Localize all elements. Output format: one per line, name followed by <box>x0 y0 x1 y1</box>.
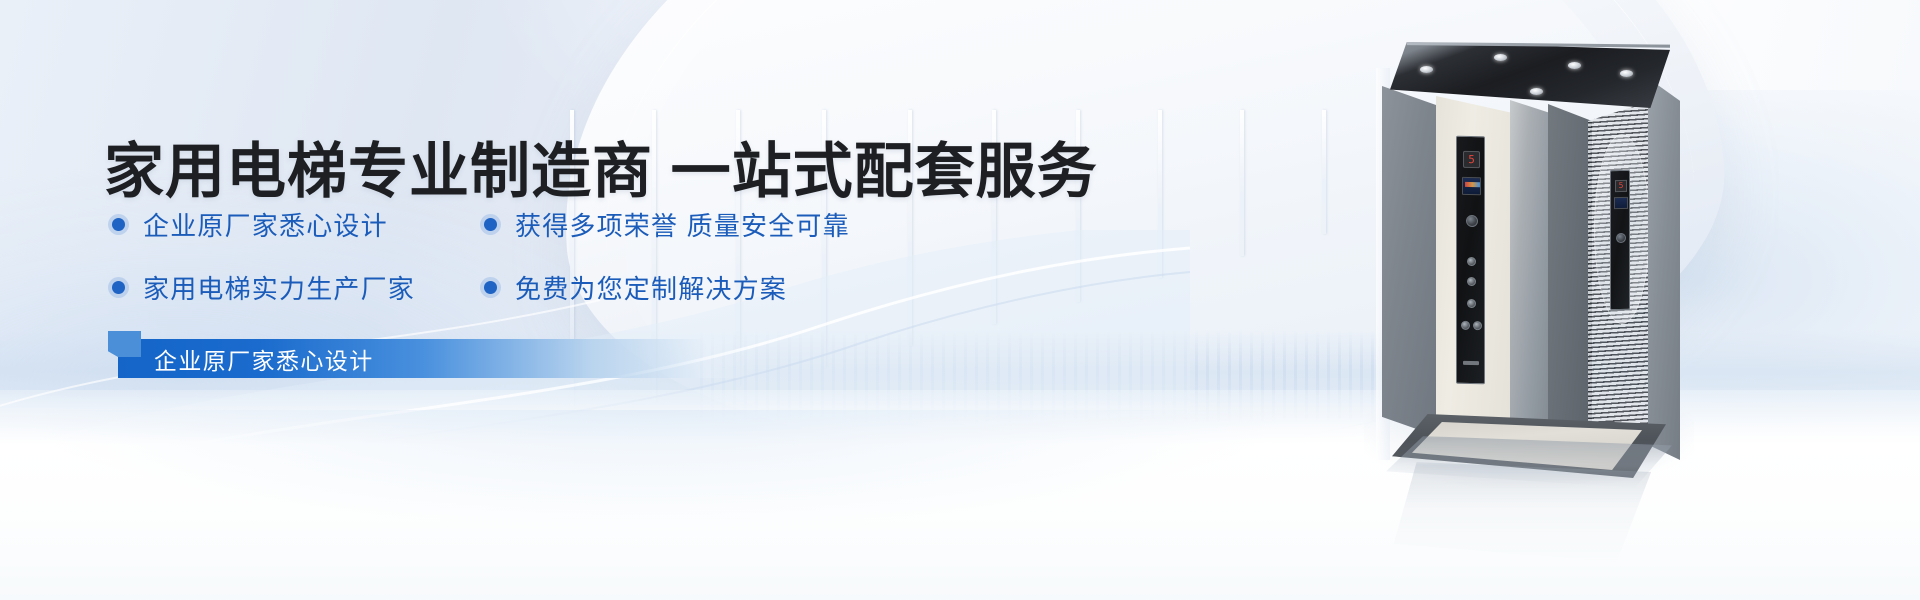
feature-bullet-list: 企业原厂家悉心设计 获得多项荣誉 质量安全可靠 家用电梯实力生产厂家 免费为您定… <box>112 206 902 332</box>
bridge-cable <box>1240 110 1244 256</box>
ribbon-label: 企业原厂家悉心设计 <box>154 342 374 376</box>
feature-item-2: 获得多项荣誉 质量安全可靠 <box>484 206 850 243</box>
elevator-center-pillar <box>1510 100 1552 442</box>
filled-dot-icon <box>484 281 497 294</box>
highlight-ribbon: 企业原厂家悉心设计 <box>118 339 758 378</box>
ceiling-light-icon <box>1420 66 1433 73</box>
feature-row: 企业原厂家悉心设计 获得多项荣誉 质量安全可靠 <box>112 206 902 243</box>
lcd-screen <box>1462 177 1481 195</box>
floor-button-3[interactable] <box>1467 299 1476 308</box>
ceiling-light-icon <box>1530 88 1543 95</box>
banner-content: 家用电梯专业制造商 一站式配套服务 企业原厂家悉心设计 获得多项荣誉 质量安全可… <box>104 0 1104 600</box>
alarm-button[interactable] <box>1466 215 1478 227</box>
promo-banner: 家用电梯专业制造商 一站式配套服务 企业原厂家悉心设计 获得多项荣誉 质量安全可… <box>0 0 1920 600</box>
ceiling-light-icon <box>1568 62 1581 69</box>
ceiling-light-icon <box>1620 70 1633 77</box>
door-open-button[interactable] <box>1461 321 1470 330</box>
elevator-left-wall <box>1382 86 1442 438</box>
filled-dot-icon <box>484 218 497 231</box>
feature-label: 企业原厂家悉心设计 <box>143 206 388 243</box>
brand-logo-plate <box>1463 361 1479 365</box>
feature-item-3: 家用电梯实力生产厂家 <box>112 269 484 306</box>
inner-floor-indicator-display: 5 <box>1615 180 1627 192</box>
inner-lcd-screen <box>1614 197 1628 209</box>
page-title: 家用电梯专业制造商 一站式配套服务 <box>104 123 1098 210</box>
filled-dot-icon <box>112 218 125 231</box>
door-close-button[interactable] <box>1473 321 1482 330</box>
inner-alarm-button[interactable] <box>1616 233 1626 243</box>
elevator-inner-control-panel[interactable]: 5 <box>1610 170 1630 310</box>
floor-button-1[interactable] <box>1467 257 1476 266</box>
feature-label: 获得多项荣誉 质量安全可靠 <box>515 206 850 243</box>
elevator-right-panel <box>1548 104 1592 444</box>
floor-button-2[interactable] <box>1467 277 1476 286</box>
feature-row: 家用电梯实力生产厂家 免费为您定制解决方案 <box>112 269 902 306</box>
home-elevator-image: 5 5 <box>1382 42 1680 462</box>
feature-item-1: 企业原厂家悉心设计 <box>112 206 484 243</box>
elevator-right-frame <box>1648 78 1680 460</box>
feature-label: 家用电梯实力生产厂家 <box>143 269 415 306</box>
floor-indicator-display: 5 <box>1463 151 1480 168</box>
elevator-control-panel[interactable]: 5 <box>1456 136 1485 385</box>
feature-label: 免费为您定制解决方案 <box>515 269 787 306</box>
ribbon-tab-icon <box>108 331 141 357</box>
bridge-cable <box>1322 110 1326 234</box>
ceiling-light-icon <box>1494 54 1507 61</box>
filled-dot-icon <box>112 281 125 294</box>
feature-item-4: 免费为您定制解决方案 <box>484 269 787 306</box>
